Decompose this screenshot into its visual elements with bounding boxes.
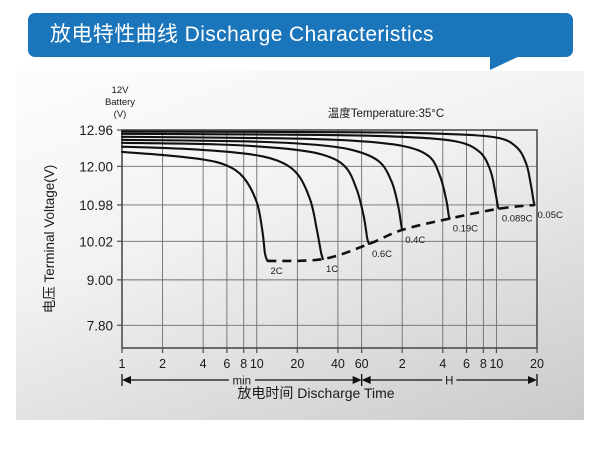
plot-frame [122,130,537,348]
range-arrow-right-H [528,376,537,384]
x-axis-ticks: 124681020406024681020 [119,348,544,371]
curve-label-2C: 2C [270,266,282,277]
x-axis-title: 放电时间 Discharge Time [237,385,394,401]
x-tick-label-0: 1 [119,357,126,371]
y-tick-label-2: 10.98 [79,198,113,213]
corner-label-line-1: 12V [112,85,130,96]
corner-label-line-3: (V) [114,109,127,120]
x-tick-label-2: 4 [200,357,207,371]
banner-tail-shape [490,54,524,70]
x-tick-label-12: 8 [480,357,487,371]
curve-0.6C [122,143,369,244]
y-axis-title: 电压 Terminal Voltage(V) [42,165,57,314]
curve-label-0.089C: 0.089C [502,214,533,225]
x-tick-label-10: 4 [439,357,446,371]
y-tick-label-0: 12.96 [79,123,113,138]
chart-panel: 12.9612.0010.9810.029.007.80 12468102040… [16,71,584,420]
x-tick-label-13: 10 [489,357,503,371]
header-banner: 放电特性曲线 Discharge Characteristics [28,13,573,63]
envelope-path [267,205,534,261]
page-title: 放电特性曲线 Discharge Characteristics [50,13,434,57]
curve-label-0.05C: 0.05C [538,210,563,221]
x-tick-label-9: 2 [399,357,406,371]
discharge-chart: 12.9612.0010.9810.029.007.80 12468102040… [16,71,584,420]
y-tick-label-3: 10.02 [79,234,113,249]
x-tick-label-3: 6 [223,357,230,371]
curve-0.05C [122,132,535,205]
range-label-H: H [445,376,453,388]
y-axis-ticks: 12.9612.0010.9810.029.007.80 [79,123,122,333]
x-tick-label-8: 60 [355,357,369,371]
curve-label-0.6C: 0.6C [372,249,392,260]
x-tick-label-11: 6 [463,357,470,371]
x-tick-label-4: 8 [240,357,247,371]
y-tick-label-1: 12.00 [79,159,113,174]
corner-label-line-2: Battery [105,97,135,108]
temperature-annotation: 温度Temperature:35°C [328,106,444,120]
x-tick-label-1: 2 [159,357,166,371]
chart-gridlines [122,130,537,348]
y-tick-label-5: 7.80 [87,318,113,333]
range-arrow-left-min [122,376,131,384]
x-tick-label-7: 40 [331,357,345,371]
y-tick-label-4: 9.00 [87,273,113,288]
x-tick-label-5: 10 [250,357,264,371]
curve-label-1C: 1C [326,264,338,275]
curve-2C [122,152,267,261]
range-arrow-left-H [362,376,371,384]
envelope-dashed-line [267,205,534,261]
range-arrow-right-min [353,376,362,384]
x-tick-label-6: 20 [290,357,304,371]
curve-label-0.4C: 0.4C [405,235,425,246]
curve-0.4C [122,140,402,230]
x-tick-label-14: 20 [530,357,544,371]
curve-label-0.19C: 0.19C [453,224,478,235]
